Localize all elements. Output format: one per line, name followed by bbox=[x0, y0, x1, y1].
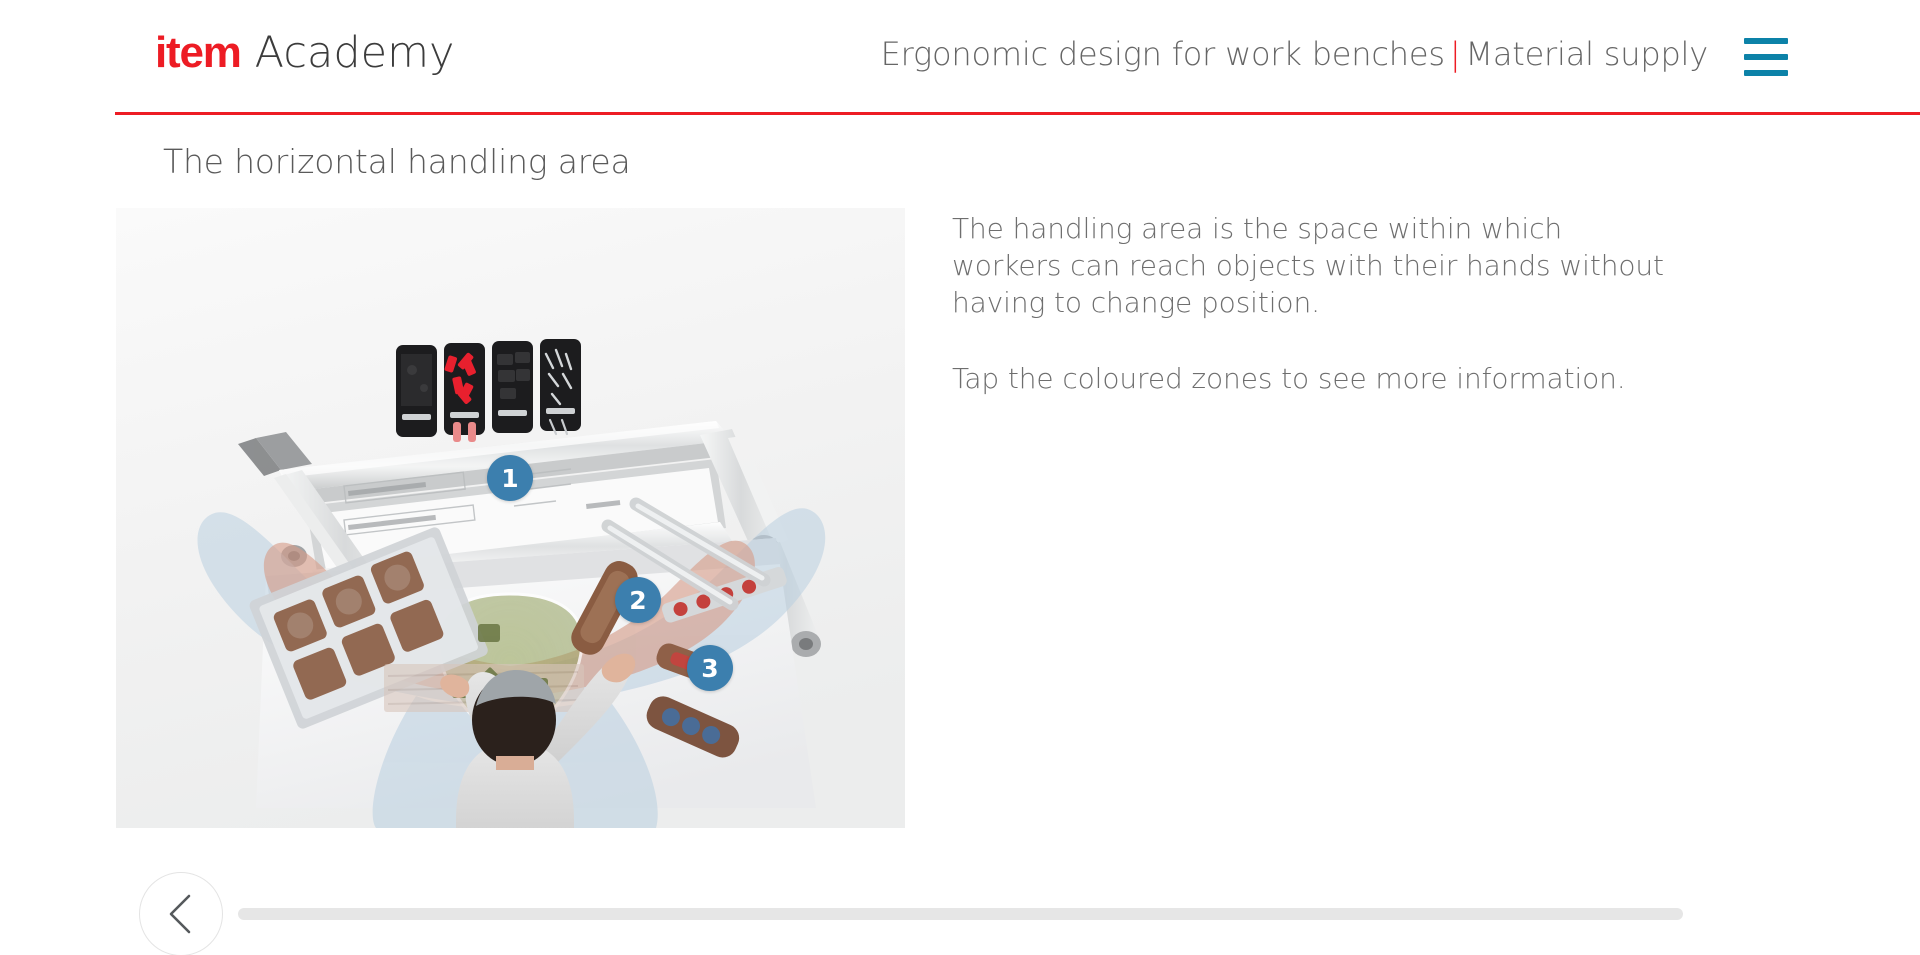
zone-2-hotspot[interactable]: 2 bbox=[615, 577, 661, 623]
course-navigation bbox=[0, 855, 1920, 955]
brand-logo[interactable]: item Academy bbox=[155, 28, 454, 78]
chevron-left-icon bbox=[164, 892, 198, 936]
brand-logo-item: item bbox=[155, 28, 241, 78]
breadcrumb-separator: | bbox=[1450, 35, 1461, 73]
breadcrumb-section: Material supply bbox=[1465, 35, 1708, 73]
description-panel: The handling area is the space within wh… bbox=[952, 210, 1672, 397]
zone-1-hotspot[interactable]: 1 bbox=[487, 455, 533, 501]
previous-button[interactable] bbox=[139, 872, 223, 955]
course-page: item Academy Ergonomic design for work b… bbox=[0, 0, 1920, 955]
progress-bar[interactable] bbox=[238, 908, 1683, 920]
brand-logo-academy: Academy bbox=[255, 28, 455, 78]
handling-area-illustration[interactable]: 1 2 3 bbox=[116, 208, 905, 828]
hamburger-bar-3 bbox=[1744, 70, 1788, 76]
instruction-paragraph: Tap the coloured zones to see more infor… bbox=[952, 360, 1672, 397]
hamburger-bar-1 bbox=[1744, 38, 1788, 44]
hamburger-menu-icon[interactable] bbox=[1744, 38, 1788, 76]
app-header: item Academy Ergonomic design for work b… bbox=[0, 0, 1920, 113]
header-divider bbox=[115, 112, 1920, 115]
description-paragraph: The handling area is the space within wh… bbox=[952, 210, 1672, 322]
breadcrumb-course: Ergonomic design for work benches bbox=[881, 35, 1445, 73]
zone-3-hotspot[interactable]: 3 bbox=[687, 645, 733, 691]
breadcrumb: Ergonomic design for work benches|Materi… bbox=[881, 35, 1708, 73]
page-title: The horizontal handling area bbox=[163, 142, 631, 181]
hamburger-bar-2 bbox=[1744, 54, 1788, 60]
